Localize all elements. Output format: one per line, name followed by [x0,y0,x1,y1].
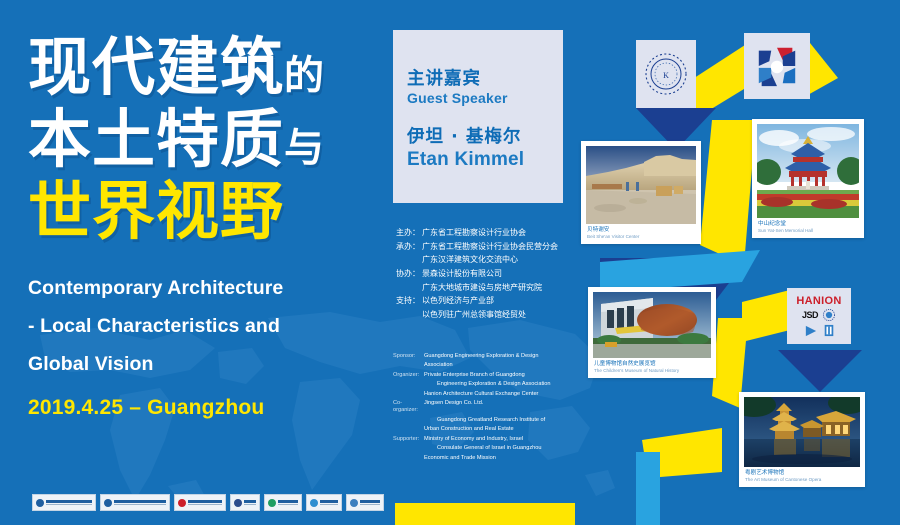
poster-canvas: 现代建筑的 本土特质与 世界视野 Contemporary Architectu… [0,0,900,525]
credit-row-cn: 以色列驻广州总领事馆经贸处 [396,310,581,319]
credit-row-en: Engineering Exploration & Design Associa… [393,381,583,388]
title-cn-line-2-main: 本土特质 [28,103,284,176]
gear-emblem-icon [822,308,836,322]
photo-caption-cn: 贝特谢安 [587,227,695,234]
credit-key-cn: 支持： [396,296,422,305]
sponsor-name-placeholder [278,500,298,505]
credit-row-cn: 广东汉洋建筑文化交流中心 [396,255,581,264]
sponsor-name-placeholder [114,500,166,505]
sponsor-mark-icon [104,499,112,507]
credit-row-en: Association [393,362,583,369]
credit-value-cn: 广东汉洋建筑文化交流中心 [422,255,518,264]
triangle-play-icon [804,325,818,337]
photo-caption-childrens-museum: 儿童博物馆自然史展览馆 The Children's Museum of Nat… [593,358,711,378]
credit-key-en: Supporter: [393,436,424,443]
credit-row-cn: 广东大地城市建设与房地产研究院 [396,283,581,292]
sponsor-chip-7[interactable] [346,494,384,511]
pinwheel-shutter-icon [754,43,800,89]
credit-key-en: Co-organizer: [393,400,424,414]
credit-row-en: Consulate General of Israel in Guangzhou [393,445,583,452]
credit-value-cn: 广东省工程勘察设计行业协会民营分会 [422,242,558,251]
photo-image-cantonese-opera [744,397,860,467]
guest-speaker-label-cn: 主讲嘉宾 [407,70,563,89]
photo-caption-beit-shean: 贝特谢安 Beit She'an Visitor Center [586,224,696,244]
photo-caption-sun-yat-sen: 中山纪念堂 Sun Yat-Sen Memorial Hall [757,218,859,238]
sponsor-mark-icon [268,499,276,507]
photo-caption-en: The Art Museum of Cantonese Opera [745,477,859,483]
photo-caption-en: Sun Yat-Sen Memorial Hall [758,228,858,234]
credit-row-en: Guangdong Greatland Research Institute o… [393,417,583,424]
credit-value-en: Jingsen Design Co. Ltd. [424,400,483,414]
guest-speaker-name-en: Etan Kimmel [407,149,563,171]
photo-card-sun-yat-sen[interactable]: 中山纪念堂 Sun Yat-Sen Memorial Hall [752,119,864,238]
photo-card-cantonese-opera[interactable]: 粤剧艺术博物馆 The Art Museum of Cantonese Oper… [739,392,865,487]
title-cn-line-1-suffix: 的 [284,53,325,99]
svg-text:K: K [663,71,669,80]
credit-value-en: Consulate General of Israel in Guangzhou [437,445,541,452]
photo-caption-cn: 中山纪念堂 [758,221,858,228]
credit-row-en: Hanion Architecture Cultural Exchange Ce… [393,391,583,398]
title-cn-line-1: 现代建筑的 [28,36,378,99]
sponsor-name-placeholder [244,500,256,505]
photo-card-childrens-museum[interactable]: 儿童博物馆自然史展览馆 The Children's Museum of Nat… [588,287,716,378]
title-block: 现代建筑的 本土特质与 世界视野 Contemporary Architectu… [28,36,378,420]
credit-value-en: Ministry of Economy and Industry, Israel [424,436,523,443]
jsd-wordmark: JSD [802,310,818,320]
title-en-block: Contemporary Architecture - Local Charac… [28,269,378,383]
photo-caption-cn: 儿童博物馆自然史展览馆 [594,361,710,368]
credit-row-cn: 承办：广东省工程勘察设计行业协会民营分会 [396,242,581,251]
photo-image-childrens-museum [593,292,711,358]
photo-image-sun-yat-sen [757,124,859,218]
title-cn-line-2: 本土特质与 [28,108,378,171]
credits-chinese: 主办：广东省工程勘察设计行业协会承办：广东省工程勘察设计行业协会民营分会广东汉洋… [396,228,581,324]
title-en-line-3: Global Vision [28,345,378,383]
sponsor-logo-strip [32,494,384,511]
credit-row-en: Economic and Trade Mission [393,455,583,462]
guest-speaker-name-cn: 伊坦 · 基梅尔 [407,128,563,147]
title-en-line-2: - Local Characteristics and [28,307,378,345]
sponsor-chip-3[interactable] [174,494,226,511]
sponsor-mark-icon [350,499,358,507]
credit-value-en: Economic and Trade Mission [424,455,496,462]
sponsor-name-placeholder [360,500,380,505]
credit-key-cn: 主办： [396,228,422,237]
credit-row-cn: 支持：以色列经济与产业部 [396,296,581,305]
title-cn-line-2-suffix: 与 [284,125,325,171]
credit-row-en: Organizer:Private Enterprise Branch of G… [393,372,583,379]
credit-key-en: Sponsor: [393,353,424,360]
credit-row-cn: 协办：景森设计股份有限公司 [396,269,581,278]
sponsor-chip-1[interactable] [32,494,96,511]
credits-english: Sponsor:Guangdong Engineering Exploratio… [393,353,583,464]
circular-seal-emblem-logo: K [636,40,696,108]
sponsor-name-placeholder [46,500,92,505]
sponsor-chip-5[interactable] [264,494,302,511]
photo-caption-en: Beit She'an Visitor Center [587,234,695,240]
credit-value-cn: 广东大地城市建设与房地产研究院 [422,283,542,292]
photo-card-beit-shean[interactable]: 贝特谢安 Beit She'an Visitor Center [581,141,701,244]
credit-value-en: Guangdong Greatland Research Institute o… [437,417,545,424]
credit-key-en: Organizer: [393,372,424,379]
sponsor-chip-2[interactable] [100,494,170,511]
sponsor-chip-4[interactable] [230,494,260,511]
bottom-yellow-bar [395,503,575,525]
credit-value-cn: 以色列驻广州总领事馆经贸处 [422,310,526,319]
credit-value-en: Engineering Exploration & Design Associa… [437,381,551,388]
photo-caption-cantonese-opera: 粤剧艺术博物馆 The Art Museum of Cantonese Oper… [744,467,860,487]
credit-value-en: Hanion Architecture Cultural Exchange Ce… [424,391,538,398]
sponsor-mark-icon [36,499,44,507]
tower-mark-icon [823,324,835,337]
sponsor-name-placeholder [320,500,338,505]
credit-value-en: Association [424,362,453,369]
photo-caption-cn: 粤剧艺术博物馆 [745,470,859,477]
hanion-wordmark: HANION [796,295,841,307]
credit-value-en: Urban Construction and Real Estate [424,426,514,433]
credit-row-en: Sponsor:Guangdong Engineering Exploratio… [393,353,583,360]
sponsor-name-placeholder [188,500,222,505]
sponsor-mark-icon [234,499,242,507]
sponsor-mark-icon [178,499,186,507]
credit-row-en: Urban Construction and Real Estate [393,426,583,433]
guest-speaker-label-en: Guest Speaker [407,90,563,106]
credit-key-cn: 承办： [396,242,422,251]
photo-caption-en: The Children's Museum of Natural History [594,368,710,374]
pinwheel-shutter-logo [744,33,810,99]
credit-row-en: Supporter:Ministry of Economy and Indust… [393,436,583,443]
photo-image-beit-shean [586,146,696,224]
date-location: 2019.4.25 – Guangzhou [28,396,378,420]
credit-value-en: Guangdong Engineering Exploration & Desi… [424,353,538,360]
title-en-line-1: Contemporary Architecture [28,269,378,307]
credit-key-cn: 协办： [396,269,422,278]
title-cn-line-1-main: 现代建筑 [28,31,284,104]
credit-value-cn: 广东省工程勘察设计行业协会 [422,228,526,237]
credit-row-cn: 主办：广东省工程勘察设计行业协会 [396,228,581,237]
hanion-logo-tile: HANION JSD [787,288,851,344]
title-cn-line-3: 世界视野 [28,180,378,243]
credit-value-cn: 以色列经济与产业部 [422,296,494,305]
credit-value-en: Private Enterprise Branch of Guangdong [424,372,525,379]
credit-row-en: Co-organizer:Jingsen Design Co. Ltd. [393,400,583,414]
sponsor-mark-icon [310,499,318,507]
sponsor-chip-6[interactable] [306,494,342,511]
circular-seal-icon: K [643,51,689,97]
guest-speaker-panel: 主讲嘉宾 Guest Speaker 伊坦 · 基梅尔 Etan Kimmel [393,30,563,203]
credit-value-cn: 景森设计股份有限公司 [422,269,502,278]
